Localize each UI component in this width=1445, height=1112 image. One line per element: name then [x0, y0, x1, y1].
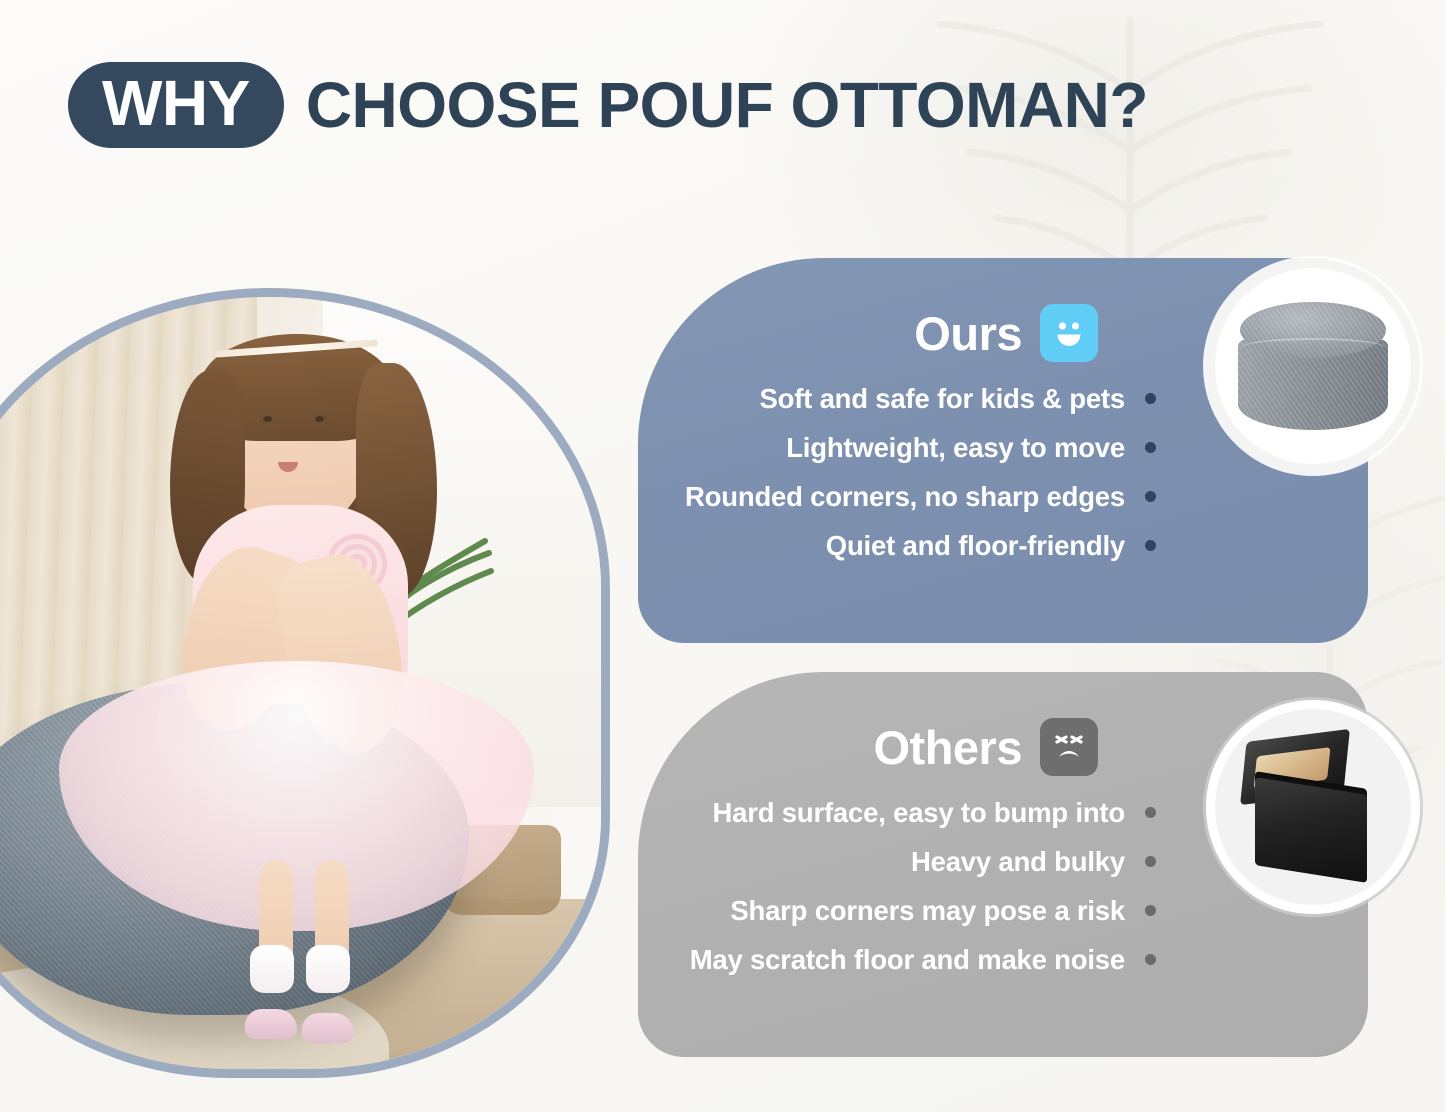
bullet-dot-icon — [1145, 807, 1156, 818]
sock-left — [250, 945, 294, 993]
others-drawback-text: Sharp corners may pose a risk — [730, 895, 1125, 927]
bullet-dot-icon — [1145, 491, 1156, 502]
infographic-canvas: WHY CHOOSE POUF OTTOMAN? — [0, 0, 1445, 1112]
round-pouf-product-image — [1238, 302, 1388, 430]
list-item: May scratch floor and make noise — [672, 935, 1156, 984]
others-card-title: Others — [874, 724, 1023, 771]
bullet-dot-icon — [1145, 442, 1156, 453]
others-drawback-text: Hard surface, easy to bump into — [712, 797, 1125, 829]
why-badge: WHY — [68, 62, 284, 148]
pouf-texture — [1238, 302, 1388, 430]
ours-benefit-text: Quiet and floor-friendly — [826, 530, 1125, 562]
child-figure — [111, 320, 482, 1030]
ours-card-title: Ours — [914, 310, 1022, 357]
list-item: Quiet and floor-friendly — [672, 521, 1156, 570]
ours-benefit-text: Rounded corners, no sharp edges — [685, 481, 1125, 513]
list-item: Soft and safe for kids & pets — [672, 374, 1156, 423]
shoe-left — [245, 1009, 297, 1039]
list-item: Heavy and bulky — [672, 837, 1156, 886]
ours-benefit-text: Lightweight, easy to move — [786, 432, 1125, 464]
black-storage-box-product-image — [1237, 736, 1389, 878]
shoe-right — [302, 1013, 354, 1043]
lifestyle-photo-inner — [0, 297, 601, 1069]
page-title: WHY CHOOSE POUF OTTOMAN? — [68, 62, 1148, 148]
title-text: CHOOSE POUF OTTOMAN? — [306, 73, 1148, 137]
list-item: Rounded corners, no sharp edges — [672, 472, 1156, 521]
tulle-skirt — [59, 661, 534, 931]
bullet-dot-icon — [1145, 954, 1156, 965]
bullet-dot-icon — [1145, 540, 1156, 551]
others-product-thumbnail — [1206, 700, 1420, 914]
bullet-dot-icon — [1145, 856, 1156, 867]
others-drawback-text: Heavy and bulky — [911, 846, 1125, 878]
list-item: Sharp corners may pose a risk — [672, 886, 1156, 935]
eye-right — [315, 416, 324, 422]
list-item: Hard surface, easy to bump into — [672, 788, 1156, 837]
others-drawback-text: May scratch floor and make noise — [690, 944, 1125, 976]
box-base — [1255, 777, 1367, 883]
bullet-dot-icon — [1145, 393, 1156, 404]
sock-right — [306, 945, 350, 993]
ours-benefit-text: Soft and safe for kids & pets — [759, 383, 1125, 415]
ours-product-thumbnail — [1206, 259, 1420, 473]
frowning-squinting-face-icon — [1040, 718, 1098, 776]
lifestyle-photo — [0, 288, 610, 1078]
smiling-face-icon — [1040, 304, 1098, 362]
bullet-dot-icon — [1145, 905, 1156, 916]
list-item: Lightweight, easy to move — [672, 423, 1156, 472]
